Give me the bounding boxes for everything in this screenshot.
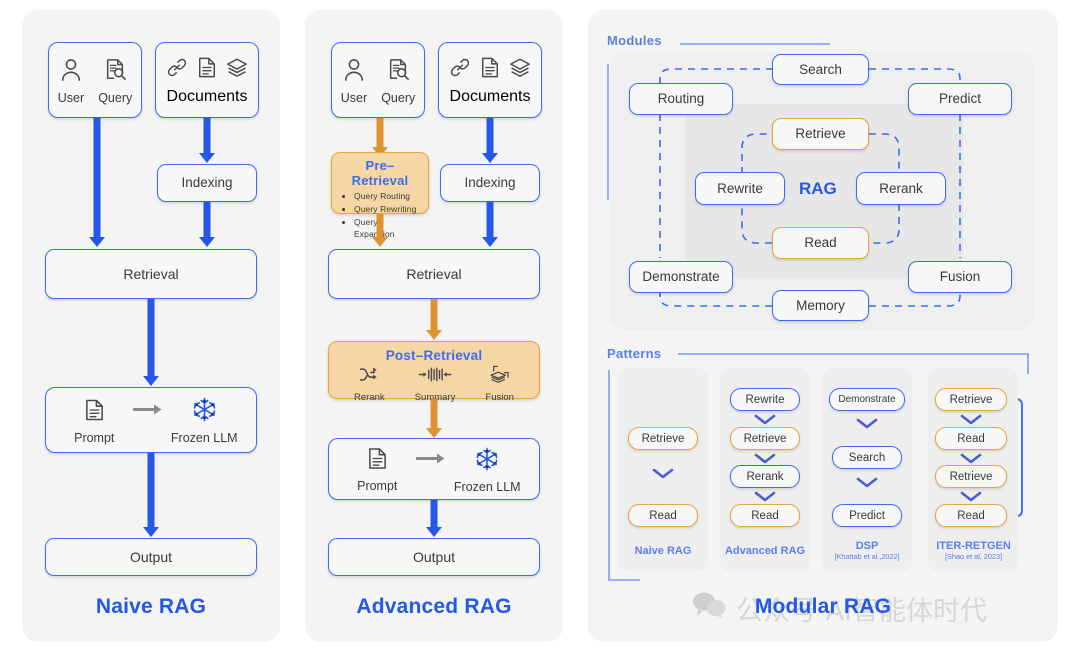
pattern-caption-dsp: DSP [Khattab et al.,2022]	[822, 540, 912, 561]
document-icon	[84, 398, 105, 427]
naive-documents-box: Documents	[155, 42, 259, 118]
fusion-layers-icon	[488, 365, 512, 388]
user-label: User	[58, 91, 84, 105]
output-label: Output	[130, 549, 172, 565]
arrow-postretrieval-to-prompt	[424, 399, 444, 439]
compress-waveform-icon	[418, 366, 452, 388]
pattern-step[interactable]: Retrieve	[935, 388, 1007, 411]
shuffle-icon	[359, 366, 379, 388]
layers-icon	[226, 56, 248, 84]
module-retrieve[interactable]: Retrieve	[772, 118, 869, 150]
prompt-label: Prompt	[357, 479, 397, 493]
arrow-indexing-to-retrieval	[480, 202, 500, 248]
module-routing[interactable]: Routing	[629, 83, 733, 115]
arrow-documents-to-indexing	[480, 118, 500, 164]
link-icon	[449, 56, 471, 84]
fusion-item: Fusion	[485, 365, 514, 403]
summary-item: Summary	[415, 366, 456, 403]
rag-center-label: RAG	[799, 179, 837, 199]
arrow-indexing-to-retrieval	[197, 202, 217, 248]
snowflake-icon	[475, 447, 499, 476]
arrow-right-icon	[133, 403, 163, 421]
rerank-label: Rerank	[354, 392, 385, 403]
frozen-llm-item: Frozen LLM	[446, 447, 529, 494]
prompt-item: Prompt	[56, 398, 133, 445]
pattern-step[interactable]: Search	[832, 446, 902, 469]
module-rerank[interactable]: Rerank	[856, 172, 946, 205]
chevron-down-icon	[856, 418, 878, 429]
pattern-step[interactable]: Read	[935, 504, 1007, 527]
chevron-down-icon	[652, 468, 674, 479]
user-icon	[343, 58, 365, 87]
arrow-user-to-retrieval	[87, 118, 107, 248]
post-retrieval-title: Post–Retrieval	[339, 348, 529, 363]
arrow-prompt-to-output	[141, 453, 161, 538]
query-label: Query	[98, 91, 132, 105]
frozen-llm-item: Frozen LLM	[163, 397, 246, 445]
retrieval-label: Retrieval	[123, 266, 178, 282]
fusion-label: Fusion	[485, 392, 514, 403]
arrow-prompt-to-output	[424, 500, 444, 538]
user-icon	[60, 58, 82, 87]
query-label: Query	[381, 91, 415, 105]
document-icon	[197, 56, 217, 84]
advanced-documents-box: Documents	[438, 42, 542, 118]
user-item: User	[58, 58, 84, 105]
chevron-down-icon	[960, 491, 982, 502]
query-item: Query	[381, 58, 415, 105]
snowflake-icon	[192, 397, 217, 427]
indexing-label: Indexing	[464, 175, 515, 191]
rerank-item: Rerank	[354, 366, 385, 403]
naive-source-box: User Query	[48, 42, 142, 118]
pattern-step[interactable]: Rewrite	[730, 388, 800, 411]
prompt-item: Prompt	[339, 447, 416, 493]
advanced-indexing-node: Indexing	[440, 164, 540, 202]
documents-label: Documents	[450, 88, 531, 106]
chevron-down-icon	[754, 414, 776, 425]
post-retrieval-icons: Rerank Summary Fusion	[339, 365, 529, 403]
pattern-step[interactable]: Retrieve	[730, 427, 800, 450]
modules-section-label: Modules	[607, 33, 662, 48]
pattern-step[interactable]: Read	[730, 504, 800, 527]
pattern-step[interactable]: Read	[935, 427, 1007, 450]
frozen-llm-label: Frozen LLM	[171, 431, 238, 445]
user-item: User	[341, 58, 367, 105]
module-read[interactable]: Read	[772, 227, 869, 259]
query-item: Query	[98, 58, 132, 105]
retrieval-label: Retrieval	[406, 266, 461, 282]
module-fusion[interactable]: Fusion	[908, 261, 1012, 293]
module-memory[interactable]: Memory	[772, 290, 869, 321]
link-icon	[166, 56, 188, 84]
chevron-down-icon	[754, 491, 776, 502]
pattern-caption-naive: Naive RAG	[618, 545, 708, 557]
modular-rag-title: Modular RAG	[588, 595, 1058, 619]
layers-icon	[509, 56, 531, 84]
pattern-step[interactable]: Retrieve	[935, 465, 1007, 488]
list-item: Query Routing	[354, 190, 420, 203]
pattern-step[interactable]: Demonstrate	[829, 388, 905, 411]
pattern-step[interactable]: Retrieve	[628, 427, 698, 450]
module-rewrite[interactable]: Rewrite	[695, 172, 785, 205]
document-icon	[367, 447, 388, 475]
advanced-output-node: Output	[328, 538, 540, 576]
chevron-down-icon	[960, 414, 982, 425]
naive-rag-title: Naive RAG	[22, 595, 280, 619]
advanced-rag-title: Advanced RAG	[305, 595, 563, 619]
arrow-preretrieval-to-retrieval	[370, 214, 390, 248]
patterns-section-label: Patterns	[607, 346, 661, 361]
pre-retrieval-box: Pre–Retrieval Query Routing Query Rewrit…	[331, 152, 429, 214]
pattern-caption-advanced: Advanced RAG	[720, 545, 810, 557]
arrow-retrieval-to-prompt	[141, 299, 161, 387]
chevron-down-icon	[960, 453, 982, 464]
query-icon	[387, 58, 409, 87]
documents-item: Documents	[449, 56, 531, 106]
module-search[interactable]: Search	[772, 54, 869, 85]
arrow-right-icon	[416, 452, 446, 470]
naive-output-node: Output	[45, 538, 257, 576]
documents-item: Documents	[166, 56, 248, 106]
module-predict[interactable]: Predict	[908, 83, 1012, 115]
document-icon	[480, 56, 500, 84]
naive-prompt-llm-box: Prompt Frozen LLM	[45, 387, 257, 453]
arrow-documents-to-indexing	[197, 118, 217, 164]
pattern-step[interactable]: Predict	[832, 504, 902, 527]
query-icon	[104, 58, 126, 87]
pattern-step[interactable]: Rerank	[730, 465, 800, 488]
diagram-canvas: User Query Documents	[0, 0, 1080, 657]
module-demonstrate[interactable]: Demonstrate	[629, 261, 733, 293]
pattern-step[interactable]: Read	[628, 504, 698, 527]
pattern-caption-iterretgen: ITER-RETGEN [Shao et al, 2023]	[926, 540, 1021, 561]
user-label: User	[341, 91, 367, 105]
indexing-label: Indexing	[181, 175, 232, 191]
post-retrieval-box: Post–Retrieval Rerank Summary Fusion	[328, 341, 540, 399]
prompt-label: Prompt	[74, 431, 114, 445]
frozen-llm-label: Frozen LLM	[454, 480, 521, 494]
chevron-down-icon	[856, 477, 878, 488]
advanced-retrieval-node: Retrieval	[328, 249, 540, 299]
advanced-source-box: User Query	[331, 42, 425, 118]
advanced-prompt-llm-box: Prompt Frozen LLM	[328, 438, 540, 500]
pre-retrieval-title: Pre–Retrieval	[340, 158, 420, 188]
documents-label: Documents	[167, 88, 248, 106]
output-label: Output	[413, 549, 455, 565]
arrow-retrieval-to-postretrieval	[424, 299, 444, 341]
chevron-down-icon	[754, 453, 776, 464]
naive-indexing-node: Indexing	[157, 164, 257, 202]
naive-retrieval-node: Retrieval	[45, 249, 257, 299]
